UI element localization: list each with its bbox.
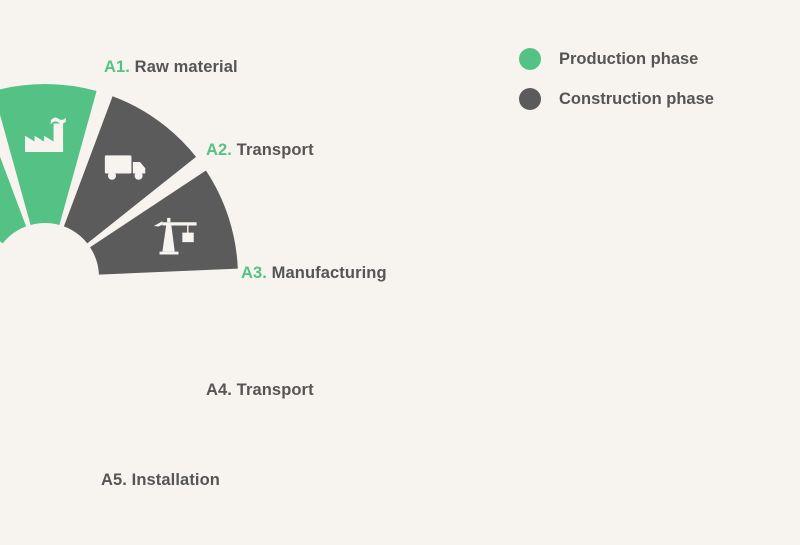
segment-label-a5: A5. Installation <box>101 471 220 490</box>
segment-code-a5: A5. <box>101 471 127 489</box>
wedge-group <box>0 84 238 275</box>
segment-label-a4: A4. Transport <box>206 381 314 400</box>
circle-marker-icon <box>519 48 541 70</box>
segment-code-a1: A1. <box>104 58 130 76</box>
segment-label-a1: A1. Raw material <box>104 58 238 77</box>
circle-marker-icon <box>519 88 541 110</box>
segment-name-a1: Raw material <box>135 58 238 76</box>
segment-code-a4: A4. <box>206 381 232 399</box>
infographic-canvas: A1. Raw material A2. Transport A3. Manuf… <box>0 0 800 545</box>
legend-label-construction: Construction phase <box>559 90 714 109</box>
legend-item-production: Production phase <box>519 48 714 70</box>
legend-item-construction: Construction phase <box>519 88 714 110</box>
segment-name-a5: Installation <box>132 471 220 489</box>
segment-code-a3: A3. <box>241 264 267 282</box>
legend: Production phase Construction phase <box>519 48 714 128</box>
segment-name-a4: Transport <box>237 381 314 399</box>
segment-label-a3: A3. Manufacturing <box>241 264 387 283</box>
segment-code-a2: A2. <box>206 141 232 159</box>
legend-label-production: Production phase <box>559 50 698 69</box>
segment-name-a2: Transport <box>237 141 314 159</box>
segment-label-a2: A2. Transport <box>206 141 314 160</box>
segment-name-a3: Manufacturing <box>272 264 387 282</box>
